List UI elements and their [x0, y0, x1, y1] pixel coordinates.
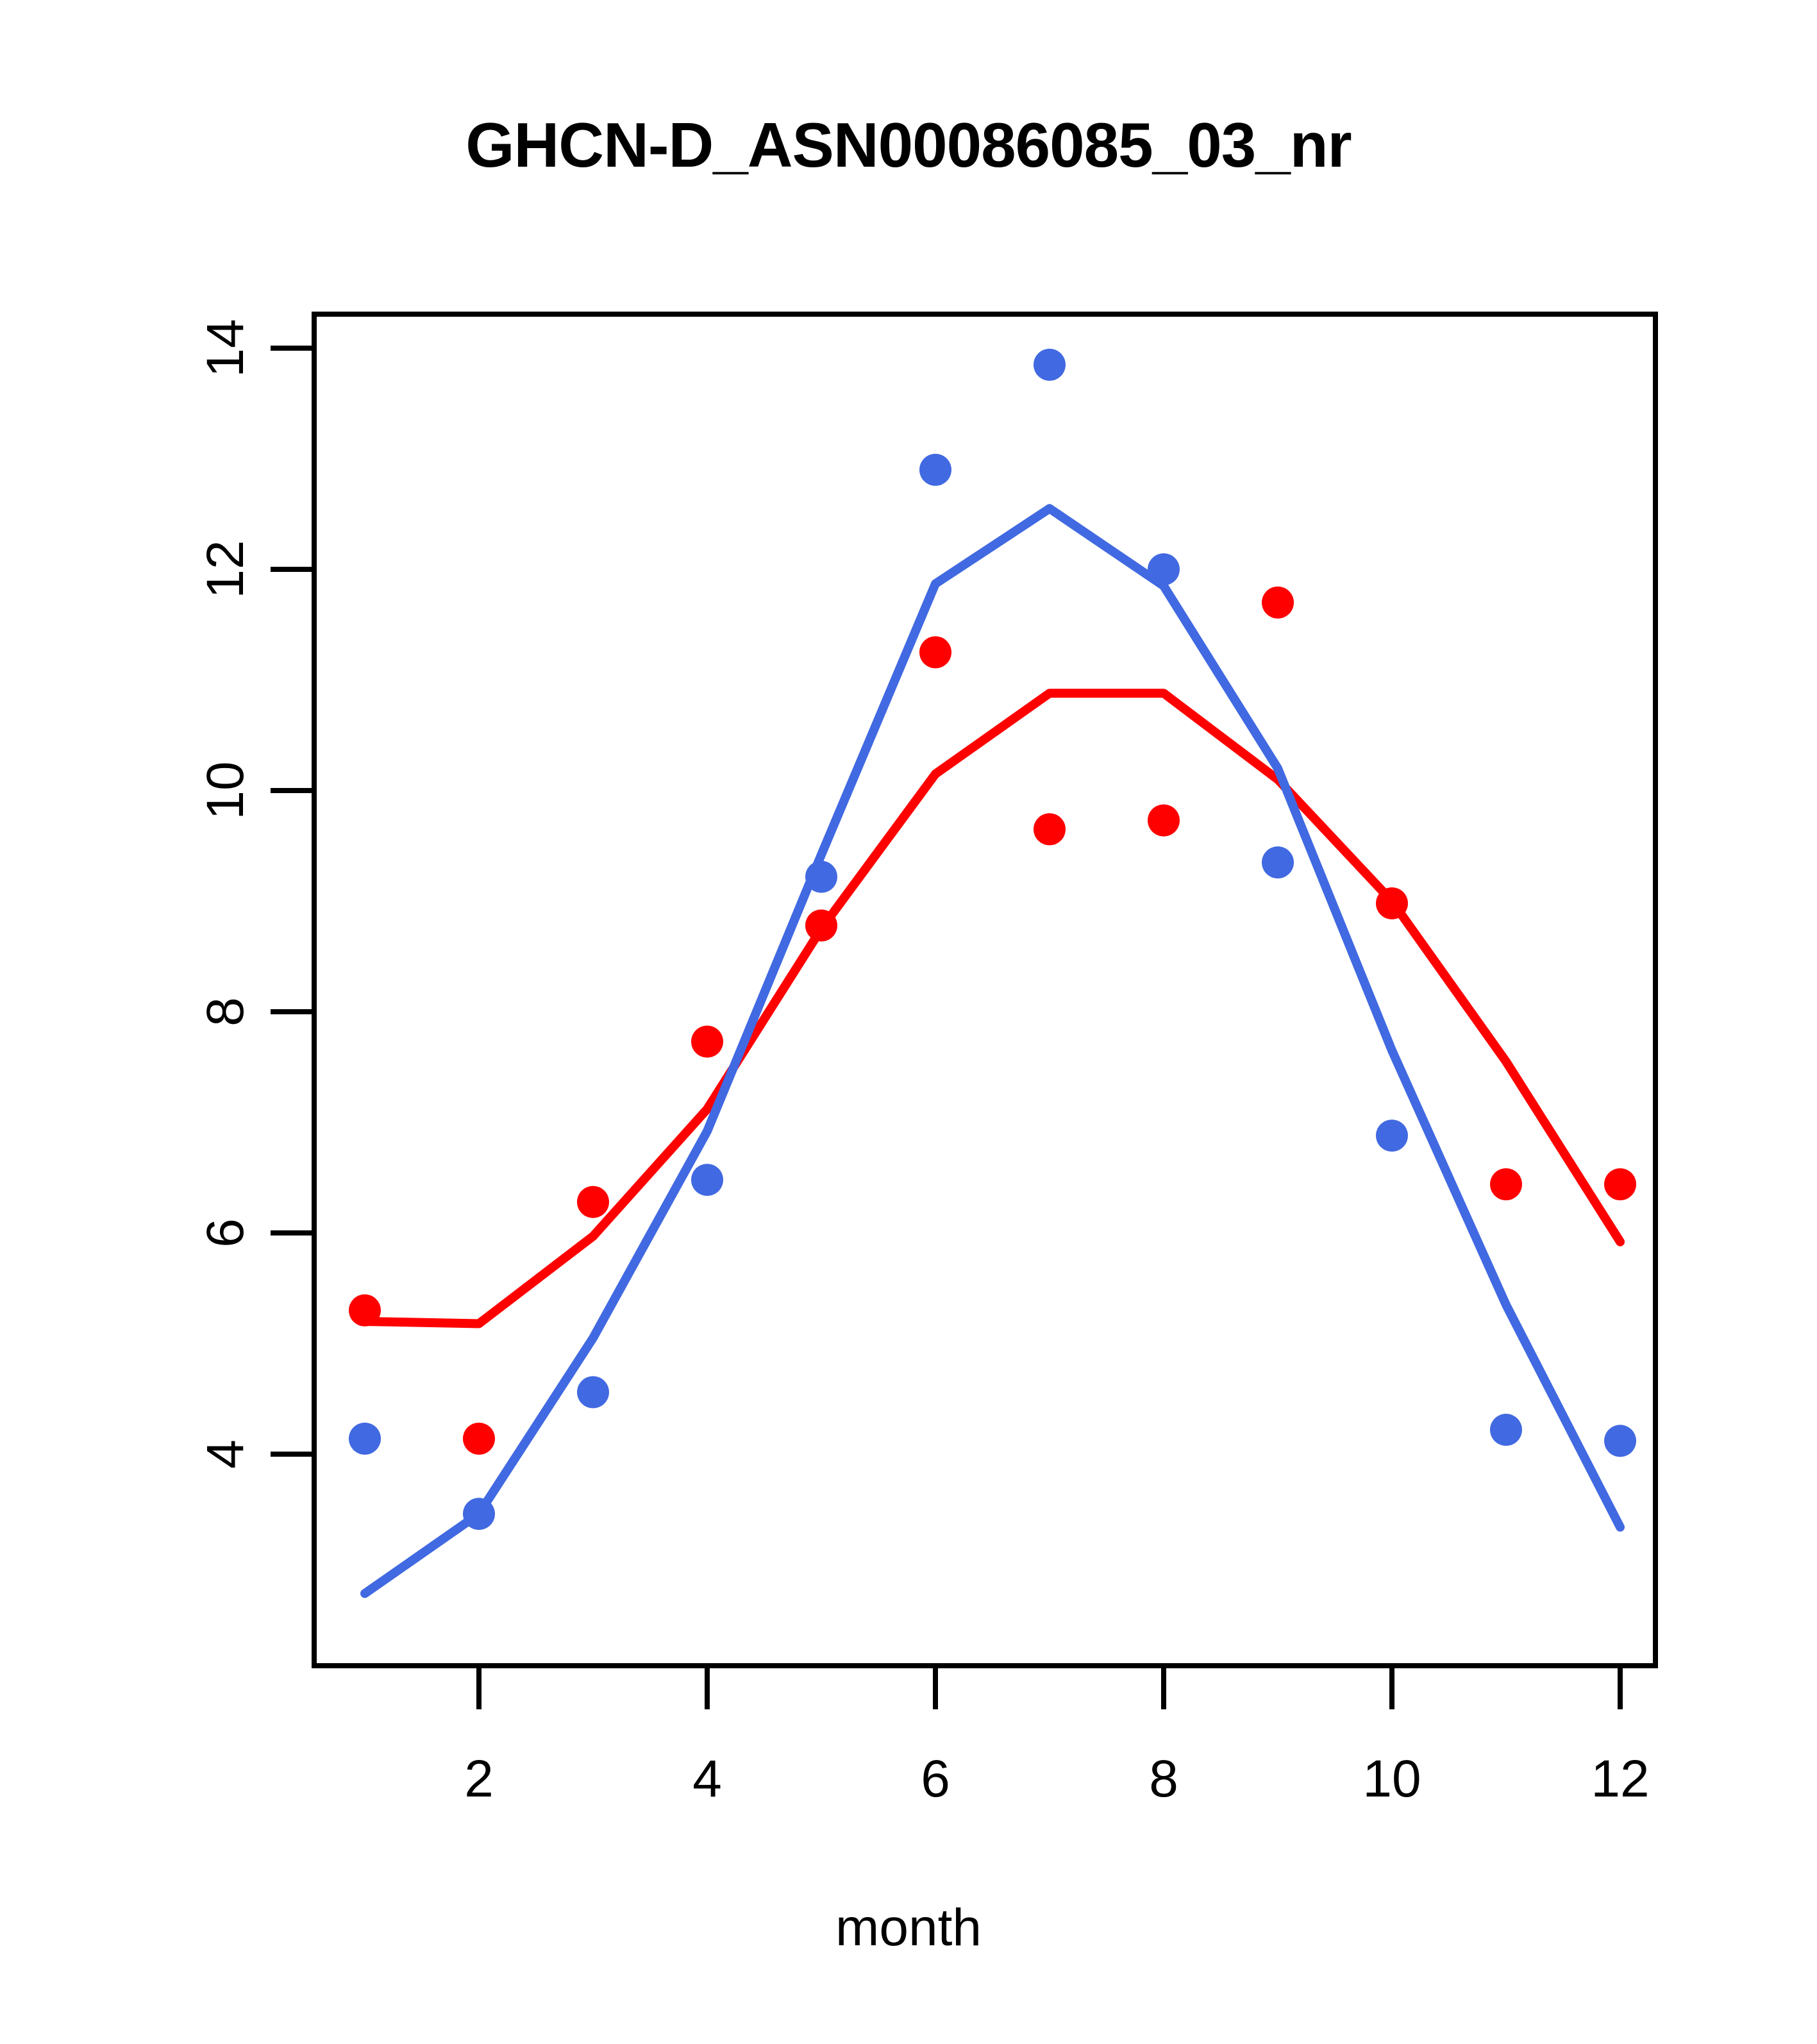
data-point — [1034, 813, 1066, 845]
data-point — [805, 861, 837, 893]
data-point — [1604, 1425, 1636, 1457]
data-point — [919, 454, 951, 486]
y-tick-label: 8 — [196, 973, 256, 1050]
y-tick-label: 6 — [196, 1194, 256, 1271]
x-tick-label: 6 — [921, 1749, 950, 1809]
data-point — [919, 636, 951, 668]
x-tick-label: 10 — [1362, 1749, 1421, 1809]
y-tick-label: 10 — [196, 752, 256, 829]
x-tick-label: 8 — [1149, 1749, 1178, 1809]
data-point — [1604, 1168, 1636, 1200]
series-line-blue-line — [365, 508, 1620, 1593]
series-line-red-line — [365, 693, 1620, 1323]
data-point — [577, 1376, 609, 1408]
chart-page: GHCN-D_ASN00086085_03_nr 468101214 24681… — [0, 0, 1817, 2044]
plot-canvas — [0, 0, 1817, 2044]
data-point — [1490, 1414, 1522, 1446]
data-point — [463, 1498, 495, 1530]
data-point — [1376, 1119, 1408, 1152]
data-point — [1034, 349, 1066, 381]
data-point — [577, 1186, 609, 1218]
data-point — [1148, 805, 1180, 837]
data-point — [691, 1026, 723, 1058]
data-point — [463, 1423, 495, 1455]
y-tick-label: 12 — [196, 531, 256, 608]
data-point — [1376, 887, 1408, 919]
data-point — [691, 1164, 723, 1196]
data-point — [1262, 846, 1294, 878]
series-points — [349, 349, 1636, 1530]
y-tick-label: 14 — [196, 310, 256, 387]
series-lines — [365, 508, 1620, 1593]
x-tick-label: 2 — [464, 1749, 494, 1809]
data-point — [349, 1423, 381, 1455]
plot-area — [0, 0, 1817, 2044]
data-point — [349, 1294, 381, 1327]
data-point — [1490, 1168, 1522, 1200]
x-axis-label: month — [0, 1898, 1817, 1958]
data-point — [805, 909, 837, 941]
data-point — [1262, 587, 1294, 619]
y-tick-label: 4 — [196, 1416, 256, 1493]
data-point — [1148, 553, 1180, 585]
x-tick-label: 12 — [1591, 1749, 1649, 1809]
x-tick-label: 4 — [692, 1749, 722, 1809]
